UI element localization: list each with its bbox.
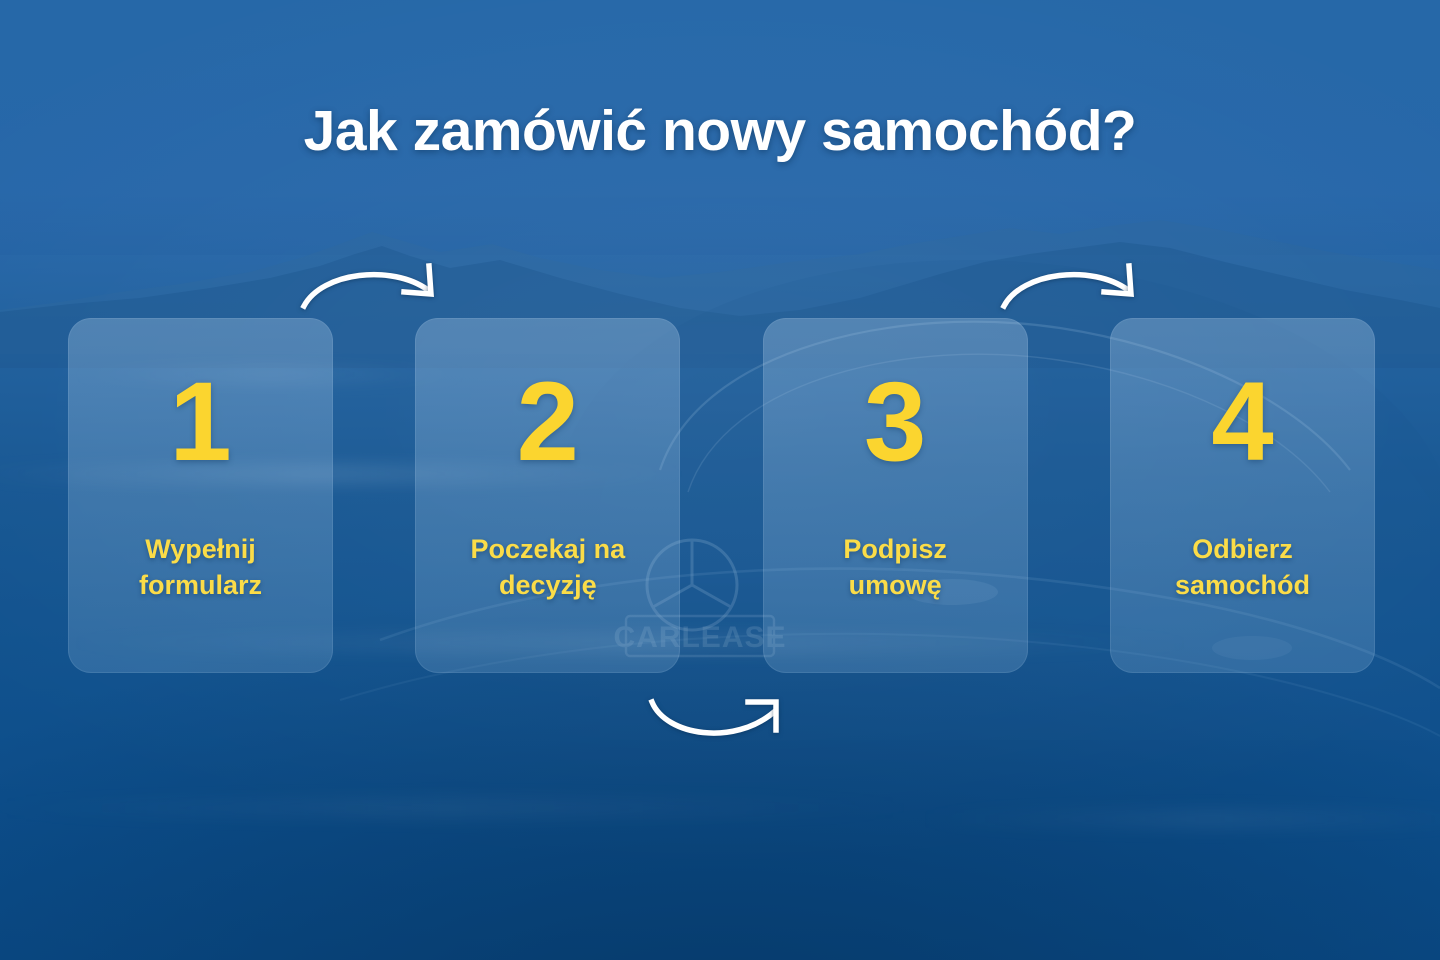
step-number-4: 4 <box>1211 366 1273 478</box>
step-label-2-line1: Poczekaj na <box>471 534 626 564</box>
page-title: Jak zamówić nowy samochód? <box>0 98 1440 164</box>
step-card-3[interactable]: 3 Podpisz umowę <box>763 318 1028 673</box>
step-label-1: Wypełnij formularz <box>129 532 272 603</box>
step-label-3: Podpisz umowę <box>833 532 957 603</box>
step-label-4-line1: Odbierz <box>1192 534 1293 564</box>
step-label-3-line2: umowę <box>849 570 942 600</box>
step-card-4[interactable]: 4 Odbierz samochód <box>1110 318 1375 673</box>
step-number-3: 3 <box>864 366 926 478</box>
step-label-1-line1: Wypełnij <box>145 534 256 564</box>
step-label-2: Poczekaj na decyzję <box>461 532 636 603</box>
steps-row: 1 Wypełnij formularz 2 Poczekaj na decyz… <box>68 318 1375 673</box>
step-card-1[interactable]: 1 Wypełnij formularz <box>68 318 333 673</box>
step-number-2: 2 <box>517 366 579 478</box>
step-number-1: 1 <box>169 366 231 478</box>
infographic-canvas: CARLEASE Jak zamówić nowy samochód? <box>0 0 1440 960</box>
step-label-3-line1: Podpisz <box>843 534 947 564</box>
step-label-4: Odbierz samochód <box>1165 532 1320 603</box>
step-card-2[interactable]: 2 Poczekaj na decyzję <box>415 318 680 673</box>
step-label-2-line2: decyzję <box>499 570 597 600</box>
step-label-4-line2: samochód <box>1175 570 1310 600</box>
step-label-1-line2: formularz <box>139 570 262 600</box>
